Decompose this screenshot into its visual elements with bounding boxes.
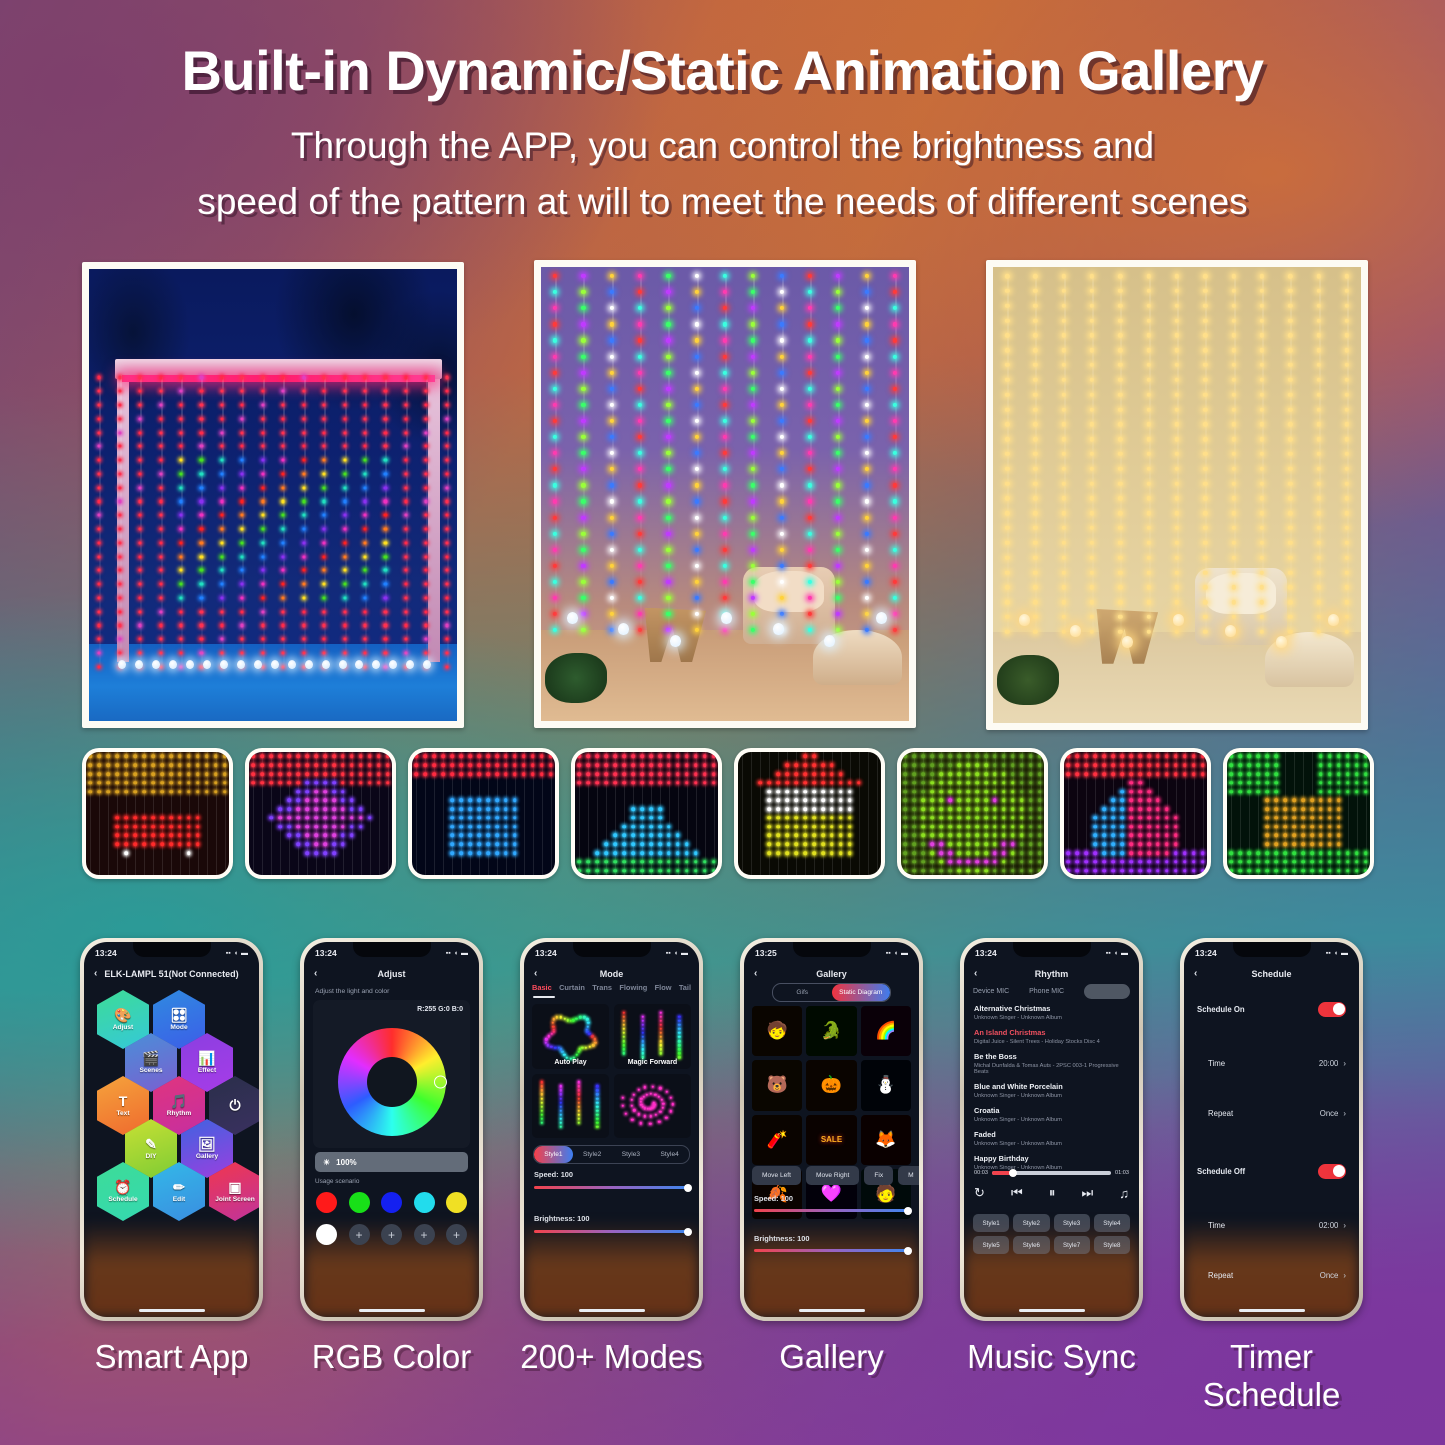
brightness-slider-label: Brightness: 100: [754, 1234, 809, 1243]
color-swatch[interactable]: [316, 1192, 337, 1213]
schedule-row-schedule-off[interactable]: Schedule Off: [1184, 1152, 1359, 1190]
gallery-icon: 🖼: [198, 1137, 216, 1151]
hex-label: Rhythm: [167, 1110, 192, 1117]
adjust-icon: 🎨: [114, 1008, 131, 1022]
song-artist-album: Unknown Singer - Unknown Album: [974, 1093, 1129, 1099]
schedule-row-repeat[interactable]: RepeatOnce›: [1184, 1094, 1359, 1132]
phone-music-sync: 13:24▪▪◖▬‹RhythmDevice MICPhone MIC Alte…: [960, 938, 1143, 1321]
led-dot: [666, 628, 670, 632]
gallery-item[interactable]: SALE: [806, 1115, 856, 1165]
color-swatch[interactable]: [414, 1192, 435, 1213]
gallery-item-icon: 🧒: [767, 1021, 788, 1041]
status-bar: 13:24▪▪◖▬: [524, 942, 699, 964]
status-time: 13:24: [975, 948, 997, 958]
brightness-slider-knob[interactable]: [684, 1228, 692, 1236]
led-bulb: [1173, 614, 1184, 626]
led-dot: [1175, 630, 1179, 634]
gallery-item[interactable]: ⛄: [861, 1060, 911, 1110]
back-button[interactable]: ‹: [1194, 968, 1197, 979]
nav-bar: ‹Schedule: [1184, 964, 1359, 983]
progress-knob[interactable]: [1009, 1169, 1017, 1177]
thumbnail-image: [412, 752, 555, 875]
song-title: Alternative Christmas: [974, 1004, 1129, 1013]
gallery-item[interactable]: 🐻: [752, 1060, 802, 1110]
thumbnail-pattern-smiley[interactable]: [897, 748, 1048, 879]
led-bulb: [389, 660, 397, 669]
battery-icon: ▬: [681, 950, 688, 957]
play-pause-icon[interactable]: ⏸: [1049, 1185, 1056, 1201]
gallery-item[interactable]: 🦊: [861, 1115, 911, 1165]
scenes-icon: 🎬: [142, 1051, 159, 1065]
gallery-toggle-gifs[interactable]: Gifs: [773, 989, 832, 996]
thumbnail-pattern-elephant[interactable]: [408, 748, 559, 879]
hex-label: DIY: [146, 1153, 157, 1160]
gallery-type-toggle: GifsStatic Diagram: [772, 983, 891, 1002]
song-artist-album: Unknown Singer - Unknown Album: [974, 1141, 1129, 1147]
schedule-row-value-group: 02:00›: [1319, 1221, 1346, 1230]
led-dot: [1288, 630, 1292, 634]
ambient-glow: [524, 1220, 699, 1318]
mode-cell-label: Magic Forward: [628, 1059, 677, 1066]
playback-progress: 00:0301:03: [974, 1170, 1129, 1176]
song-list-item[interactable]: Blue and White PorcelainUnknown Singer -…: [974, 1082, 1129, 1099]
power-icon: ⏻: [229, 1098, 240, 1112]
status-bar: 13:24▪▪◖▬: [84, 942, 259, 964]
song-list-item[interactable]: Alternative ChristmasUnknown Singer - Un…: [974, 1004, 1129, 1021]
led-bulb: [237, 660, 245, 669]
led-bulb: [670, 635, 681, 647]
wifi-icon: ◖: [234, 950, 238, 957]
led-dot: [1005, 630, 1009, 634]
thumbnail-pattern-reindeer[interactable]: [1223, 748, 1374, 879]
song-list-item[interactable]: Be the BossMichal Dunfalda & Tomas Auts …: [974, 1052, 1129, 1075]
led-bulb: [254, 660, 262, 669]
mode-cell-pattern-3[interactable]: [532, 1074, 609, 1139]
style-chip-style1[interactable]: Style1: [534, 1146, 573, 1163]
signal-icon: ▪▪: [886, 950, 891, 957]
status-time: 13:24: [315, 948, 337, 958]
back-button[interactable]: ‹: [94, 968, 97, 979]
gallery-toggle-static-diagram[interactable]: Static Diagram: [832, 984, 891, 1001]
hero-image-outdoor-pergola: [82, 262, 464, 728]
status-bar: 13:24▪▪◖▬: [304, 942, 479, 964]
active-tab-indicator: [533, 996, 555, 998]
led-dot: [445, 665, 448, 668]
phone-screen: 13:24▪▪◖▬‹RhythmDevice MICPhone MIC Alte…: [964, 942, 1139, 1317]
battery-icon: ▬: [241, 950, 248, 957]
wifi-icon: ◖: [894, 950, 898, 957]
rgb-value-readout: R:255 G:0 B:0: [417, 1006, 463, 1013]
brightness-slider[interactable]: [754, 1249, 909, 1252]
schedule-row-label: Repeat: [1208, 1109, 1233, 1118]
led-bulb: [406, 660, 414, 669]
led-bulb: [322, 660, 330, 669]
nav-bar: ‹Rhythm: [964, 964, 1139, 983]
subtitle-line-1: Through the APP, you can control the bri…: [0, 124, 1445, 168]
promo-page: Built-in Dynamic/Static Animation Galler…: [0, 0, 1445, 1445]
status-icons: ▪▪◖▬: [226, 950, 248, 957]
led-dot: [836, 628, 840, 632]
phone-caption: Smart App: [80, 1338, 263, 1376]
speed-slider[interactable]: [534, 1186, 689, 1189]
gallery-button-move-left[interactable]: Move Left: [752, 1166, 801, 1185]
led-bulb: [824, 635, 835, 647]
led-bulb: [271, 660, 279, 669]
schedule-row-label: Time: [1208, 1221, 1225, 1230]
battery-icon: ▬: [461, 950, 468, 957]
schedule-row-label: Repeat: [1208, 1271, 1233, 1280]
gallery-item-icon: 🧨: [767, 1130, 788, 1150]
led-dot: [1146, 630, 1150, 634]
back-button[interactable]: ‹: [534, 968, 537, 979]
color-swatch[interactable]: [381, 1192, 402, 1213]
home-indicator: [139, 1309, 205, 1312]
led-dot: [1118, 630, 1122, 634]
color-swatch[interactable]: [446, 1192, 467, 1213]
led-dot: [384, 665, 387, 668]
led-bulb: [1070, 625, 1081, 637]
wifi-icon: ◖: [454, 950, 458, 957]
phone-screen: 13:24▪▪◖▬‹AdjustAdjust the light and col…: [304, 942, 479, 1317]
hex-label: Gallery: [196, 1153, 218, 1160]
status-time: 13:24: [535, 948, 557, 958]
mode-cell-pattern-4[interactable]: [614, 1074, 691, 1139]
add-swatch-button[interactable]: +: [381, 1224, 402, 1245]
mode-cell-magic-forward[interactable]: Magic Forward: [614, 1004, 691, 1069]
rhythm-style-style8[interactable]: Style8: [1094, 1236, 1130, 1254]
section-label: Adjust the light and color: [315, 988, 389, 995]
battery-icon: ▬: [901, 950, 908, 957]
phone-caption: TimerSchedule: [1180, 1338, 1363, 1415]
nav-title: Mode: [600, 969, 624, 979]
brightness-slider[interactable]: ☀100%: [315, 1152, 468, 1172]
schedule-row-label: Schedule Off: [1197, 1167, 1245, 1176]
rhythm-style-grid: Style1Style2Style3Style4Style5Style6Styl…: [973, 1214, 1130, 1254]
effect-icon: 📊: [198, 1051, 215, 1065]
hex-label: Scenes: [139, 1067, 162, 1074]
status-icons: ▪▪◖▬: [446, 950, 468, 957]
thumbnail-pattern-car[interactable]: [82, 748, 233, 879]
style-chip-style4[interactable]: Style4: [650, 1151, 689, 1158]
gallery-item[interactable]: 🧨: [752, 1115, 802, 1165]
mic-mode-pill[interactable]: [1084, 984, 1130, 999]
song-artist-album: Unknown Singer - Unknown Album: [974, 1015, 1129, 1021]
mic-source-row: Device MICPhone MIC: [973, 984, 1130, 999]
led-dot: [1203, 630, 1207, 634]
status-bar: 13:24▪▪◖▬: [964, 942, 1139, 964]
transport-controls: ↻⏮⏸⏭♫: [974, 1185, 1129, 1201]
song-list-item[interactable]: Happy BirthdayUnknown Singer - Unknown A…: [974, 1154, 1129, 1171]
hex-label: Effect: [198, 1067, 216, 1074]
phone-smart-app: 13:24▪▪◖▬‹ELK-LAMPL 51(Not Connected)🎨Ad…: [80, 938, 263, 1321]
style-chip-group: Style1Style2Style3Style4: [533, 1145, 690, 1164]
nav-bar: ‹Gallery: [744, 964, 919, 983]
led-bulb: [1276, 636, 1287, 648]
speed-slider-knob[interactable]: [684, 1184, 692, 1192]
led-matrix: [1227, 752, 1370, 875]
usage-scenario-label: Usage scenario: [315, 1178, 359, 1185]
mode-tabs: BasicCurtainTransFlowingFlowTail: [532, 983, 691, 992]
led-matrix: [1064, 752, 1207, 875]
thumbnail-image: [1064, 752, 1207, 875]
status-bar: 13:24▪▪◖▬: [1184, 942, 1359, 964]
subtitle-line-2: speed of the pattern at will to meet the…: [0, 180, 1445, 224]
led-bulb: [1019, 614, 1030, 626]
joint-screen-icon: ▣: [228, 1180, 241, 1194]
led-bulb: [169, 660, 177, 669]
nav-title: Rhythm: [1035, 969, 1069, 979]
led-dot: [1090, 630, 1094, 634]
tab-curtain[interactable]: Curtain: [559, 983, 585, 992]
led-bulb: [1122, 636, 1133, 648]
gallery-item-icon: ⛄: [875, 1075, 896, 1095]
status-time: 13:24: [1195, 948, 1217, 958]
wifi-icon: ◖: [674, 950, 678, 957]
signal-icon: ▪▪: [1106, 950, 1111, 957]
schedule-row-schedule-on[interactable]: Schedule On: [1184, 990, 1359, 1028]
led-bulb: [355, 660, 363, 669]
brightness-slider-label: Brightness: 100: [534, 1214, 589, 1223]
back-button[interactable]: ‹: [314, 968, 317, 979]
schedule-row-value: Once: [1320, 1271, 1339, 1280]
rhythm-style-style1[interactable]: Style1: [973, 1214, 1009, 1232]
led-dot: [1345, 630, 1349, 634]
home-indicator: [1239, 1309, 1305, 1312]
led-dot: [1260, 630, 1264, 634]
brightness-value: 100%: [336, 1158, 356, 1167]
schedule-toggle[interactable]: [1318, 1164, 1346, 1179]
thumbnail-image: [1227, 752, 1370, 875]
tab-basic[interactable]: Basic: [532, 983, 552, 992]
rhythm-style-style5[interactable]: Style5: [973, 1236, 1009, 1254]
chevron-right-icon: ›: [1343, 1221, 1346, 1230]
hex-label: Joint Screen: [215, 1196, 255, 1203]
wifi-icon: ◖: [1334, 950, 1338, 957]
led-bulb: [305, 660, 313, 669]
led-dot: [581, 628, 585, 632]
signal-icon: ▪▪: [226, 950, 231, 957]
gallery-item-icon: 🧑: [875, 1184, 896, 1204]
schedule-row-repeat[interactable]: RepeatOnce›: [1184, 1256, 1359, 1294]
next-icon[interactable]: ⏭: [1081, 1185, 1093, 1201]
edit-icon: ✏: [173, 1180, 185, 1194]
color-swatch[interactable]: [349, 1192, 370, 1213]
phone-gallery: 13:25▪▪◖▬‹GalleryGifsStatic Diagram🧒🐊🌈🐻🎃…: [740, 938, 923, 1321]
phone-modes: 13:24▪▪◖▬‹ModeBasicCurtainTransFlowingFl…: [520, 938, 703, 1321]
led-bulb: [1225, 625, 1236, 637]
phone-screen: 13:24▪▪◖▬‹ScheduleSchedule OnTime20:00›R…: [1184, 942, 1359, 1317]
led-bulb: [372, 660, 380, 669]
hex-label: Mode: [170, 1024, 187, 1031]
signal-icon: ▪▪: [1326, 950, 1331, 957]
tab-trans[interactable]: Trans: [592, 983, 612, 992]
gallery-item-icon: 🐻: [767, 1075, 788, 1095]
schedule-row-value-group: Once›: [1320, 1109, 1346, 1118]
rhythm-style-style3[interactable]: Style3: [1054, 1214, 1090, 1232]
gallery-pattern-grid: 🧒🐊🌈🐻🎃⛄🧨SALE🦊🍂💜🧑: [752, 1006, 911, 1219]
led-bulb: [186, 660, 194, 669]
home-indicator: [579, 1309, 645, 1312]
led-dot: [363, 665, 366, 668]
led-bulb: [618, 623, 629, 635]
schedule-row-label: Time: [1208, 1059, 1225, 1068]
speed-slider-label: Speed: 100: [754, 1194, 793, 1203]
led-dot: [553, 628, 557, 632]
schedule-toggle[interactable]: [1318, 1002, 1346, 1017]
rhythm-style-style2[interactable]: Style2: [1013, 1214, 1049, 1232]
nav-title: Adjust: [378, 969, 406, 979]
gallery-item[interactable]: 🎃: [806, 1060, 856, 1110]
diy-icon: ✎: [145, 1137, 157, 1151]
hex-label: Edit: [173, 1196, 185, 1203]
tab-flowing[interactable]: Flowing: [619, 983, 647, 992]
song-list: Alternative ChristmasUnknown Singer - Un…: [974, 1004, 1129, 1178]
thumbnail-pattern-tree[interactable]: [571, 748, 722, 879]
signal-icon: ▪▪: [666, 950, 671, 957]
text-icon: T: [119, 1094, 128, 1108]
led-bulb: [721, 612, 732, 624]
song-title: An Island Christmas: [974, 1028, 1129, 1037]
speed-slider-label: Speed: 100: [534, 1170, 573, 1179]
schedule-icon: ⏰: [114, 1180, 131, 1194]
style-chip-style3[interactable]: Style3: [612, 1151, 651, 1158]
schedule-row-time[interactable]: Time02:00›: [1184, 1206, 1359, 1244]
song-list-item[interactable]: FadedUnknown Singer - Unknown Album: [974, 1130, 1129, 1147]
thumbnail-pattern-heart[interactable]: [1060, 748, 1211, 879]
color-wheel[interactable]: [338, 1028, 446, 1136]
rhythm-icon: 🎵: [170, 1094, 187, 1108]
led-bulb: [288, 660, 296, 669]
speed-slider-knob[interactable]: [904, 1207, 912, 1215]
swatch-row: [316, 1192, 467, 1213]
gallery-button-fix[interactable]: Fix: [864, 1166, 893, 1185]
rhythm-style-style7[interactable]: Style7: [1054, 1236, 1090, 1254]
rhythm-style-style6[interactable]: Style6: [1013, 1236, 1049, 1254]
led-dot: [695, 628, 699, 632]
phone-timer-schedule: 13:24▪▪◖▬‹ScheduleSchedule OnTime20:00›R…: [1180, 938, 1363, 1321]
gallery-item-icon: SALE: [821, 1135, 842, 1144]
status-time: 13:24: [95, 948, 117, 958]
color-wheel-knob[interactable]: [434, 1076, 447, 1089]
led-dot: [893, 628, 897, 632]
phone-screen: 13:24▪▪◖▬‹ModeBasicCurtainTransFlowingFl…: [524, 942, 699, 1317]
phone-caption: RGB Color: [300, 1338, 483, 1376]
gallery-item[interactable]: 🐊: [806, 1006, 856, 1056]
nav-title: ELK-LAMPL 51(Not Connected): [104, 969, 238, 979]
led-matrix: [738, 752, 881, 875]
rhythm-style-style4[interactable]: Style4: [1094, 1214, 1130, 1232]
thumbnail-image: [738, 752, 881, 875]
nav-bar: ‹Mode: [524, 964, 699, 983]
brightness-icon: ☀: [323, 1158, 330, 1167]
style-chip-style2[interactable]: Style2: [573, 1151, 612, 1158]
edit-icon[interactable]: ♫: [1119, 1186, 1129, 1201]
mic-option-phone-mic[interactable]: Phone MIC: [1029, 988, 1064, 995]
song-list-item[interactable]: CroatiaUnknown Singer - Unknown Album: [974, 1106, 1129, 1123]
led-matrix: [901, 752, 1044, 875]
mic-option-device-mic[interactable]: Device MIC: [973, 988, 1009, 995]
gallery-item[interactable]: 🧒: [752, 1006, 802, 1056]
led-matrix: [249, 752, 392, 875]
swatch-row: ++++: [316, 1224, 467, 1245]
phone-screen: 13:24▪▪◖▬‹ELK-LAMPL 51(Not Connected)🎨Ad…: [84, 942, 259, 1317]
speed-slider[interactable]: [754, 1209, 909, 1212]
led-bulb: [118, 660, 126, 669]
thumbnail-pattern-house[interactable]: [734, 748, 885, 879]
nav-title: Schedule: [1251, 969, 1291, 979]
chevron-right-icon: ›: [1343, 1109, 1346, 1118]
hex-label: Schedule: [108, 1196, 137, 1203]
gallery-button-move-right[interactable]: Move Right: [806, 1166, 859, 1185]
led-dot: [723, 628, 727, 632]
hero-image-indoor-multicolor: [534, 260, 916, 728]
gallery-item[interactable]: 🌈: [861, 1006, 911, 1056]
mode-pattern-art: [535, 1077, 606, 1136]
song-title: Happy Birthday: [974, 1154, 1129, 1163]
song-title: Faded: [974, 1130, 1129, 1139]
schedule-row-value-group: 20:00›: [1319, 1059, 1346, 1068]
schedule-row-value: Once: [1320, 1109, 1339, 1118]
home-indicator: [1019, 1309, 1085, 1312]
battery-icon: ▬: [1341, 950, 1348, 957]
back-button[interactable]: ‹: [754, 968, 757, 979]
mode-icon: 🎛: [170, 1008, 188, 1022]
led-bulb: [773, 623, 784, 635]
add-swatch-button[interactable]: +: [414, 1224, 435, 1245]
status-time: 13:25: [755, 948, 777, 958]
add-swatch-button[interactable]: +: [446, 1224, 467, 1245]
gallery-button-m[interactable]: M: [898, 1166, 919, 1185]
page-title: Built-in Dynamic/Static Animation Galler…: [0, 38, 1445, 103]
add-swatch-button[interactable]: +: [349, 1224, 370, 1245]
repeat-icon[interactable]: ↻: [974, 1185, 985, 1201]
gallery-item-icon: 🐊: [821, 1021, 842, 1041]
phone-caption: Gallery: [740, 1338, 923, 1376]
led-bulb: [135, 660, 143, 669]
song-list-item[interactable]: An Island ChristmasDigital Juice - Silen…: [974, 1028, 1129, 1045]
brightness-slider[interactable]: [534, 1230, 689, 1233]
tab-tail[interactable]: Tail: [679, 983, 691, 992]
mode-cell-label: Auto Play: [554, 1059, 586, 1066]
chevron-right-icon: ›: [1343, 1059, 1346, 1068]
mode-pattern-art: [617, 1077, 688, 1136]
color-swatch[interactable]: [316, 1224, 337, 1245]
led-matrix: [575, 752, 718, 875]
song-artist-album: Unknown Singer - Unknown Album: [974, 1117, 1129, 1123]
previous-icon[interactable]: ⏮: [1011, 1185, 1023, 1201]
nav-bar: ‹ELK-LAMPL 51(Not Connected): [84, 964, 259, 983]
brightness-slider-knob[interactable]: [904, 1247, 912, 1255]
thumbnail-pattern-star[interactable]: [245, 748, 396, 879]
back-button[interactable]: ‹: [974, 968, 977, 979]
status-icons: ▪▪◖▬: [886, 950, 908, 957]
phone-caption: Music Sync: [960, 1338, 1143, 1376]
led-dot: [638, 628, 642, 632]
progress-track[interactable]: [992, 1171, 1111, 1175]
schedule-row-time[interactable]: Time20:00›: [1184, 1044, 1359, 1082]
led-bulb: [876, 612, 887, 624]
led-bulb: [567, 612, 578, 624]
song-artist-album: Michal Dunfalda & Tomas Auts - 2PSC 003-…: [974, 1063, 1129, 1075]
phone-rgb-color: 13:24▪▪◖▬‹AdjustAdjust the light and col…: [300, 938, 483, 1321]
mode-cell-auto-play[interactable]: Auto Play: [532, 1004, 609, 1069]
battery-icon: ▬: [1121, 950, 1128, 957]
led-bulb: [339, 660, 347, 669]
led-matrix: [412, 752, 555, 875]
thumbnail-image: [249, 752, 392, 875]
tab-flow[interactable]: Flow: [655, 983, 672, 992]
schedule-row-value: 02:00: [1319, 1221, 1339, 1230]
